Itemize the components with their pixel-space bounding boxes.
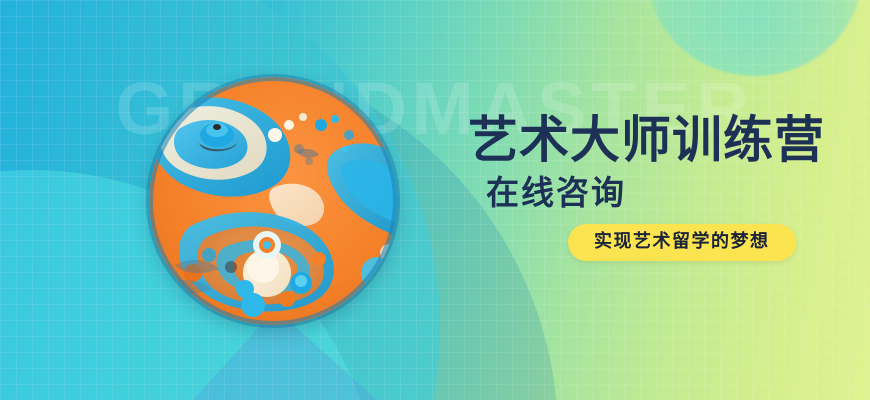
banner-subtitle: 在线咨询 [486,174,860,212]
promo-banner[interactable]: GRANDMASTER [0,0,870,400]
art-circle-image [149,77,397,325]
banner-text-block: 艺术大师训练营 在线咨询 实现艺术留学的梦想 [468,112,860,261]
cta-badge[interactable]: 实现艺术留学的梦想 [568,224,796,261]
page-title: 艺术大师训练营 [468,112,860,168]
